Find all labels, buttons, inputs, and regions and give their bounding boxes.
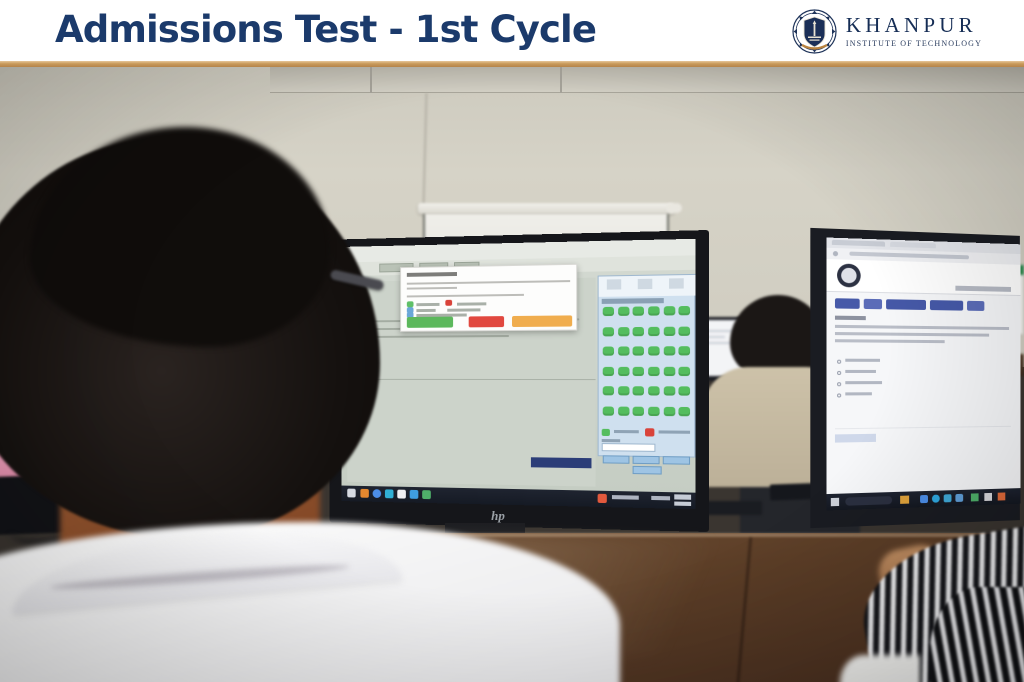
taskbar-app-icon[interactable]: [998, 492, 1006, 500]
institute-logo-text: KHANPUR INSTITUTE OF TECHNOLOGY: [846, 14, 982, 47]
windows-start-icon[interactable]: [347, 489, 355, 498]
answer-option[interactable]: [837, 373, 898, 377]
question-number-button[interactable]: [618, 386, 629, 395]
taskbar-app-icon[interactable]: [971, 493, 979, 501]
palette-action-button[interactable]: [633, 466, 662, 475]
answer-option[interactable]: [837, 362, 898, 366]
taskbar-app-icon[interactable]: [410, 490, 419, 499]
legend-unanswered-swatch: [645, 428, 654, 436]
question-number-button[interactable]: [663, 326, 675, 335]
legend-label: [614, 430, 639, 433]
palette-stat: [607, 279, 621, 289]
reload-icon[interactable]: [833, 251, 838, 256]
question-number-button[interactable]: [648, 366, 659, 375]
modal-message-line: [407, 287, 457, 290]
exam-tab[interactable]: [835, 298, 860, 309]
legend-label: [659, 430, 690, 433]
question-number-button[interactable]: [663, 366, 675, 375]
taskbar-app-icon[interactable]: [373, 489, 382, 498]
right-monitor-screen[interactable]: [827, 238, 1021, 511]
taskbar-app-icon[interactable]: [944, 494, 952, 502]
taskbar-label: [612, 495, 639, 500]
taskbar-app-icon[interactable]: [360, 489, 368, 498]
ceiling-seam: [370, 67, 372, 93]
question-number-button[interactable]: [648, 386, 659, 395]
question-number-button[interactable]: [618, 346, 629, 355]
palette-action-button[interactable]: [663, 456, 690, 465]
question-number-button[interactable]: [679, 386, 691, 395]
palette-stat: [669, 278, 684, 289]
legend-label: [602, 439, 620, 442]
question-number-grid[interactable]: [603, 306, 692, 424]
question-number-button[interactable]: [618, 406, 629, 415]
question-number-button[interactable]: [603, 347, 614, 356]
center-monitor-screen[interactable]: [342, 239, 696, 509]
modal-cancel-button[interactable]: [469, 316, 504, 327]
modal-message-line: [407, 280, 570, 285]
taskbar-app-icon[interactable]: [984, 493, 992, 501]
palette-action-button[interactable]: [603, 455, 630, 464]
palette-stat: [638, 279, 653, 289]
institute-subtitle: INSTITUTE OF TECHNOLOGY: [846, 39, 982, 48]
taskbar-app-icon[interactable]: [422, 490, 431, 499]
question-number-button[interactable]: [633, 406, 644, 415]
question-number-button[interactable]: [618, 327, 629, 336]
ceiling-panel: [270, 67, 1024, 93]
question-number-button[interactable]: [618, 307, 629, 316]
monitor-cable: [10, 517, 66, 543]
projector-screen-housing: [418, 203, 674, 214]
question-number-button[interactable]: [633, 346, 644, 355]
system-tray-icons[interactable]: [651, 496, 670, 501]
submit-button[interactable]: [531, 457, 592, 468]
modal-confirm-button[interactable]: [407, 317, 453, 328]
question-palette-panel: [598, 274, 696, 458]
question-number-label: [835, 316, 866, 321]
question-number-button[interactable]: [663, 346, 675, 355]
banner-page: Admissions Test - 1st Cycle: [0, 0, 1024, 682]
hp-logo: hp: [485, 508, 511, 524]
taskbar-app-icon[interactable]: [397, 490, 406, 499]
exam-nav-tabs[interactable]: [835, 298, 1013, 311]
question-number-button[interactable]: [603, 406, 614, 415]
khanpur-crest-emblem-icon: [792, 9, 837, 54]
windows-start-icon[interactable]: [831, 498, 839, 506]
question-number-button[interactable]: [648, 346, 659, 355]
taskbar-app-icon[interactable]: [385, 489, 394, 498]
right-student-white-sleeve: [840, 655, 920, 682]
palette-input[interactable]: [602, 443, 656, 452]
content-divider: [835, 426, 1011, 429]
banner-header: Admissions Test - 1st Cycle: [0, 0, 1024, 61]
legend-answered-swatch: [602, 429, 610, 436]
projector-screen-knob: [666, 203, 682, 213]
lab-photograph: hp hp: [0, 67, 1024, 682]
question-number-button[interactable]: [648, 326, 659, 335]
page-title: Admissions Test - 1st Cycle: [55, 8, 596, 51]
taskbar-app-icon[interactable]: [955, 494, 963, 502]
modal-alt-button[interactable]: [512, 315, 572, 327]
answer-option[interactable]: [837, 384, 898, 388]
question-number-button[interactable]: [603, 386, 614, 395]
question-number-button[interactable]: [603, 327, 614, 336]
question-number-button[interactable]: [679, 406, 691, 415]
taskbar-app-icon[interactable]: [920, 495, 928, 503]
question-number-button[interactable]: [679, 326, 691, 335]
question-number-button[interactable]: [648, 406, 659, 415]
exam-tab[interactable]: [864, 299, 882, 309]
question-number-button[interactable]: [648, 306, 659, 315]
confirmation-modal-dialog[interactable]: [400, 264, 577, 332]
modal-message-line: [407, 294, 524, 298]
modal-title: [407, 272, 457, 277]
question-number-button[interactable]: [679, 366, 691, 375]
question-number-button[interactable]: [663, 406, 675, 415]
question-number-button[interactable]: [663, 386, 675, 395]
taskbar-app-icon[interactable]: [900, 496, 909, 504]
question-number-button[interactable]: [679, 306, 691, 315]
ceiling-seam: [560, 67, 562, 93]
content-divider: [347, 379, 595, 380]
clock-time: [674, 494, 691, 500]
institute-crest-inner: [841, 268, 856, 284]
answer-option[interactable]: [837, 350, 898, 354]
institute-logo: KHANPUR INSTITUTE OF TECHNOLOGY: [792, 8, 982, 54]
institute-name: KHANPUR: [846, 14, 982, 36]
question-number-button[interactable]: [633, 306, 644, 315]
question-number-button[interactable]: [603, 366, 614, 375]
question-number-button[interactable]: [633, 366, 644, 375]
exam-tab[interactable]: [886, 299, 926, 310]
next-question-button[interactable]: [835, 434, 876, 443]
clock-date: [674, 502, 691, 506]
question-number-button[interactable]: [618, 366, 629, 375]
exam-tab[interactable]: [930, 300, 963, 311]
question-number-button[interactable]: [603, 307, 614, 316]
exam-tab[interactable]: [967, 301, 984, 311]
question-number-button[interactable]: [679, 346, 691, 355]
question-number-button[interactable]: [633, 326, 644, 335]
taskbar-search-box[interactable]: [845, 496, 892, 506]
palette-section-title: [602, 298, 664, 304]
palette-action-button[interactable]: [633, 456, 660, 465]
question-number-button[interactable]: [663, 306, 675, 315]
palette-header: [599, 275, 696, 297]
taskbar-app-icon[interactable]: [598, 494, 607, 503]
question-number-button[interactable]: [633, 386, 644, 395]
taskbar-app-icon[interactable]: [932, 495, 940, 503]
question-text: [835, 325, 1009, 344]
